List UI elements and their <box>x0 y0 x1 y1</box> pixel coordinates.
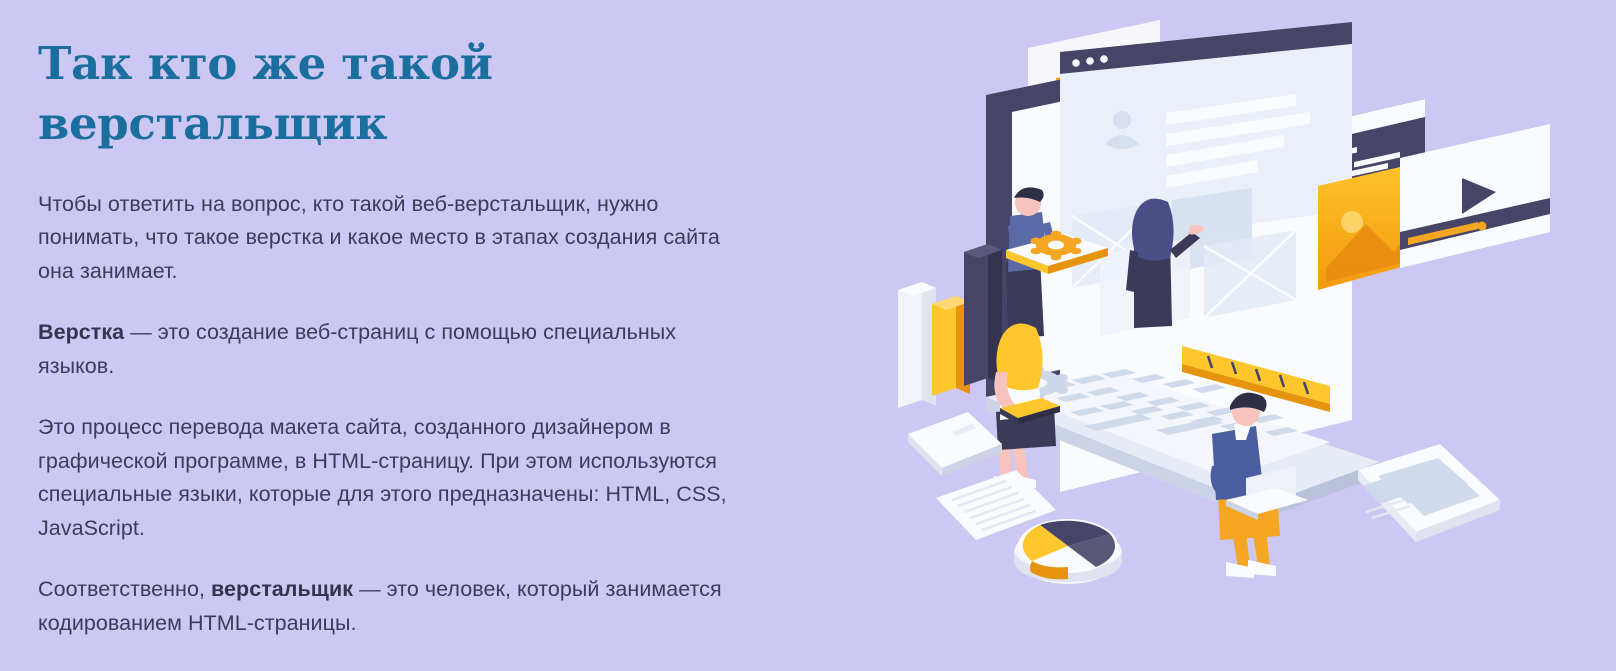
video-scrubber-handle <box>1478 222 1487 231</box>
article-text-column: Так кто же такой верстальщик Чтобы ответ… <box>38 34 758 641</box>
page-title: Так кто же такой верстальщик <box>38 34 758 154</box>
page-root: Так кто же такой верстальщик Чтобы ответ… <box>0 0 1616 671</box>
article-paragraph-p2: Верстка — это создание веб-страниц с пом… <box>38 316 758 383</box>
text-run: Это процесс перевода макета сайта, созда… <box>38 415 727 540</box>
article-paragraph-p3: Это процесс перевода макета сайта, созда… <box>38 411 758 545</box>
illustration-svg: Карточка с прогресс-баром Чат с иконкой … <box>860 0 1616 671</box>
emphasis-term: верстальщик <box>211 577 353 601</box>
text-run: — это создание веб-страниц с помощью спе… <box>38 320 676 378</box>
wireframe-sheet: Лист каркаса страницы <box>1358 444 1500 542</box>
article-body: Чтобы ответить на вопрос, кто такой веб-… <box>38 188 758 641</box>
hero-illustration: Карточка с прогресс-баром Чат с иконкой … <box>860 0 1616 671</box>
text-run: Соответственно, <box>38 577 211 601</box>
article-paragraph-p1: Чтобы ответить на вопрос, кто такой веб-… <box>38 188 758 289</box>
smartphone: Смартфон <box>908 412 1002 476</box>
text-run: Чтобы ответить на вопрос, кто такой веб-… <box>38 192 720 283</box>
pie-chart-3d: Круговая диаграмма <box>1014 519 1122 584</box>
article-paragraph-p4: Соответственно, верстальщик — это челове… <box>38 573 758 640</box>
emphasis-term: Верстка <box>38 320 124 344</box>
